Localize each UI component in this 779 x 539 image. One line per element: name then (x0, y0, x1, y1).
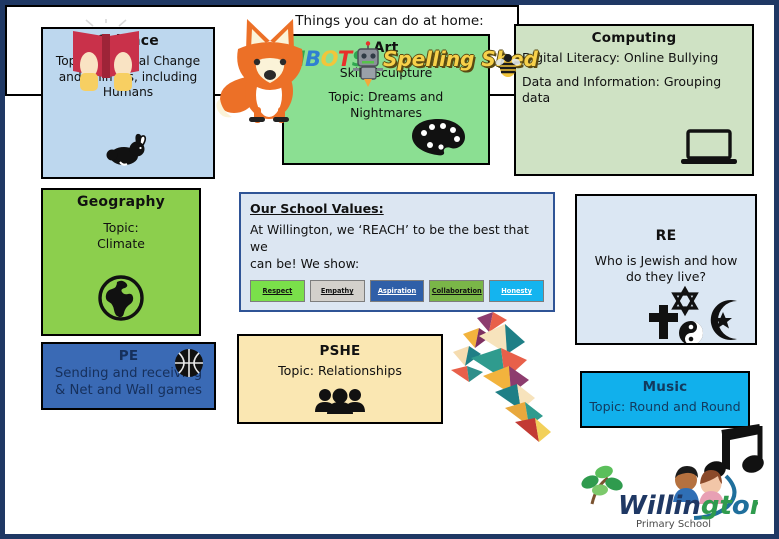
computing-title: Computing (522, 30, 746, 47)
school-values-body-line-1: At Willington, we ‘REACH’ to be the best… (250, 222, 544, 255)
people-group-icon (314, 386, 366, 414)
computing-line-2: Data and Information: Grouping (522, 74, 746, 90)
re-line-2: do they live? (583, 269, 749, 285)
geography-line-2: Climate (49, 236, 193, 252)
subject-card-pe: PE Sending and receiving & Net and Wall … (41, 342, 216, 410)
fox-illustration (216, 7, 312, 125)
laptop-icon (680, 128, 738, 168)
value-badge-honesty-label: Honesty (501, 287, 532, 295)
subject-card-pshe: PSHE Topic: Relationships (237, 334, 443, 424)
geography-line-1: Topic: (49, 220, 193, 236)
geography-title: Geography (49, 194, 193, 212)
music-line-1: Topic: Round and Round (588, 399, 742, 415)
subject-card-music: Music Topic: Round and Round (580, 371, 750, 428)
re-line-1: Who is Jewish and how (583, 253, 749, 269)
music-title: Music (588, 379, 742, 396)
value-badge-respect-label: Respect (263, 287, 293, 295)
robot-icon (350, 41, 386, 87)
subject-card-computing: Computing Digital Literacy: Online Bully… (514, 24, 754, 176)
school-logo-name: Willington (618, 491, 758, 521)
willington-primary-school-logo: Willington Primary School (578, 458, 758, 532)
open-book-icon (67, 19, 145, 91)
value-badge-aspiration: Aspiration (370, 280, 425, 302)
value-badge-collaboration: Collaboration (429, 280, 484, 302)
art-spacer (290, 81, 482, 89)
bee-icon (495, 53, 521, 79)
re-title: RE (583, 228, 749, 246)
school-values-body: At Willington, we ‘REACH’ to be the best… (250, 222, 544, 272)
computing-spacer (522, 66, 746, 74)
pshe-line-1: Topic: Relationships (245, 363, 435, 379)
school-values-panel: Our School Values: At Willington, we ‘RE… (239, 192, 555, 312)
basketball-icon (174, 348, 204, 378)
subject-card-re: RE Who is Jewish and how do they live? (575, 194, 757, 345)
value-badge-honesty: Honesty (489, 280, 544, 302)
geometric-hand-illustration (449, 310, 557, 444)
subject-card-geography: Geography Topic: Climate (41, 188, 201, 336)
value-badge-empathy-label: Empathy (321, 287, 354, 295)
value-badge-empathy: Empathy (310, 280, 365, 302)
value-badge-aspiration-label: Aspiration (378, 287, 416, 295)
globe-icon (97, 274, 145, 322)
pshe-title: PSHE (245, 343, 435, 360)
rabbit-icon (106, 133, 150, 167)
pe-line-2: & Net and Wall games (49, 383, 208, 400)
school-values-heading: Our School Values: (250, 201, 544, 217)
numbots-letter-5: O (321, 49, 338, 70)
school-values-badge-row: Respect Empathy Aspiration Collaboration… (250, 280, 544, 302)
computing-line-1: Digital Literacy: Online Bullying (522, 50, 746, 66)
school-values-body-line-2: can be! We show: (250, 256, 544, 273)
school-logo-subtitle: Primary School (636, 519, 711, 530)
value-badge-collaboration-label: Collaboration (432, 287, 482, 295)
computing-line-3: data (522, 90, 746, 106)
art-line-2: Topic: Dreams and (290, 89, 482, 105)
curriculum-newsletter-page: Science Topic: Seasonal Change and Anima… (0, 0, 779, 539)
palette-icon (410, 117, 466, 157)
value-badge-respect: Respect (250, 280, 305, 302)
faith-symbols-icon (641, 285, 749, 343)
